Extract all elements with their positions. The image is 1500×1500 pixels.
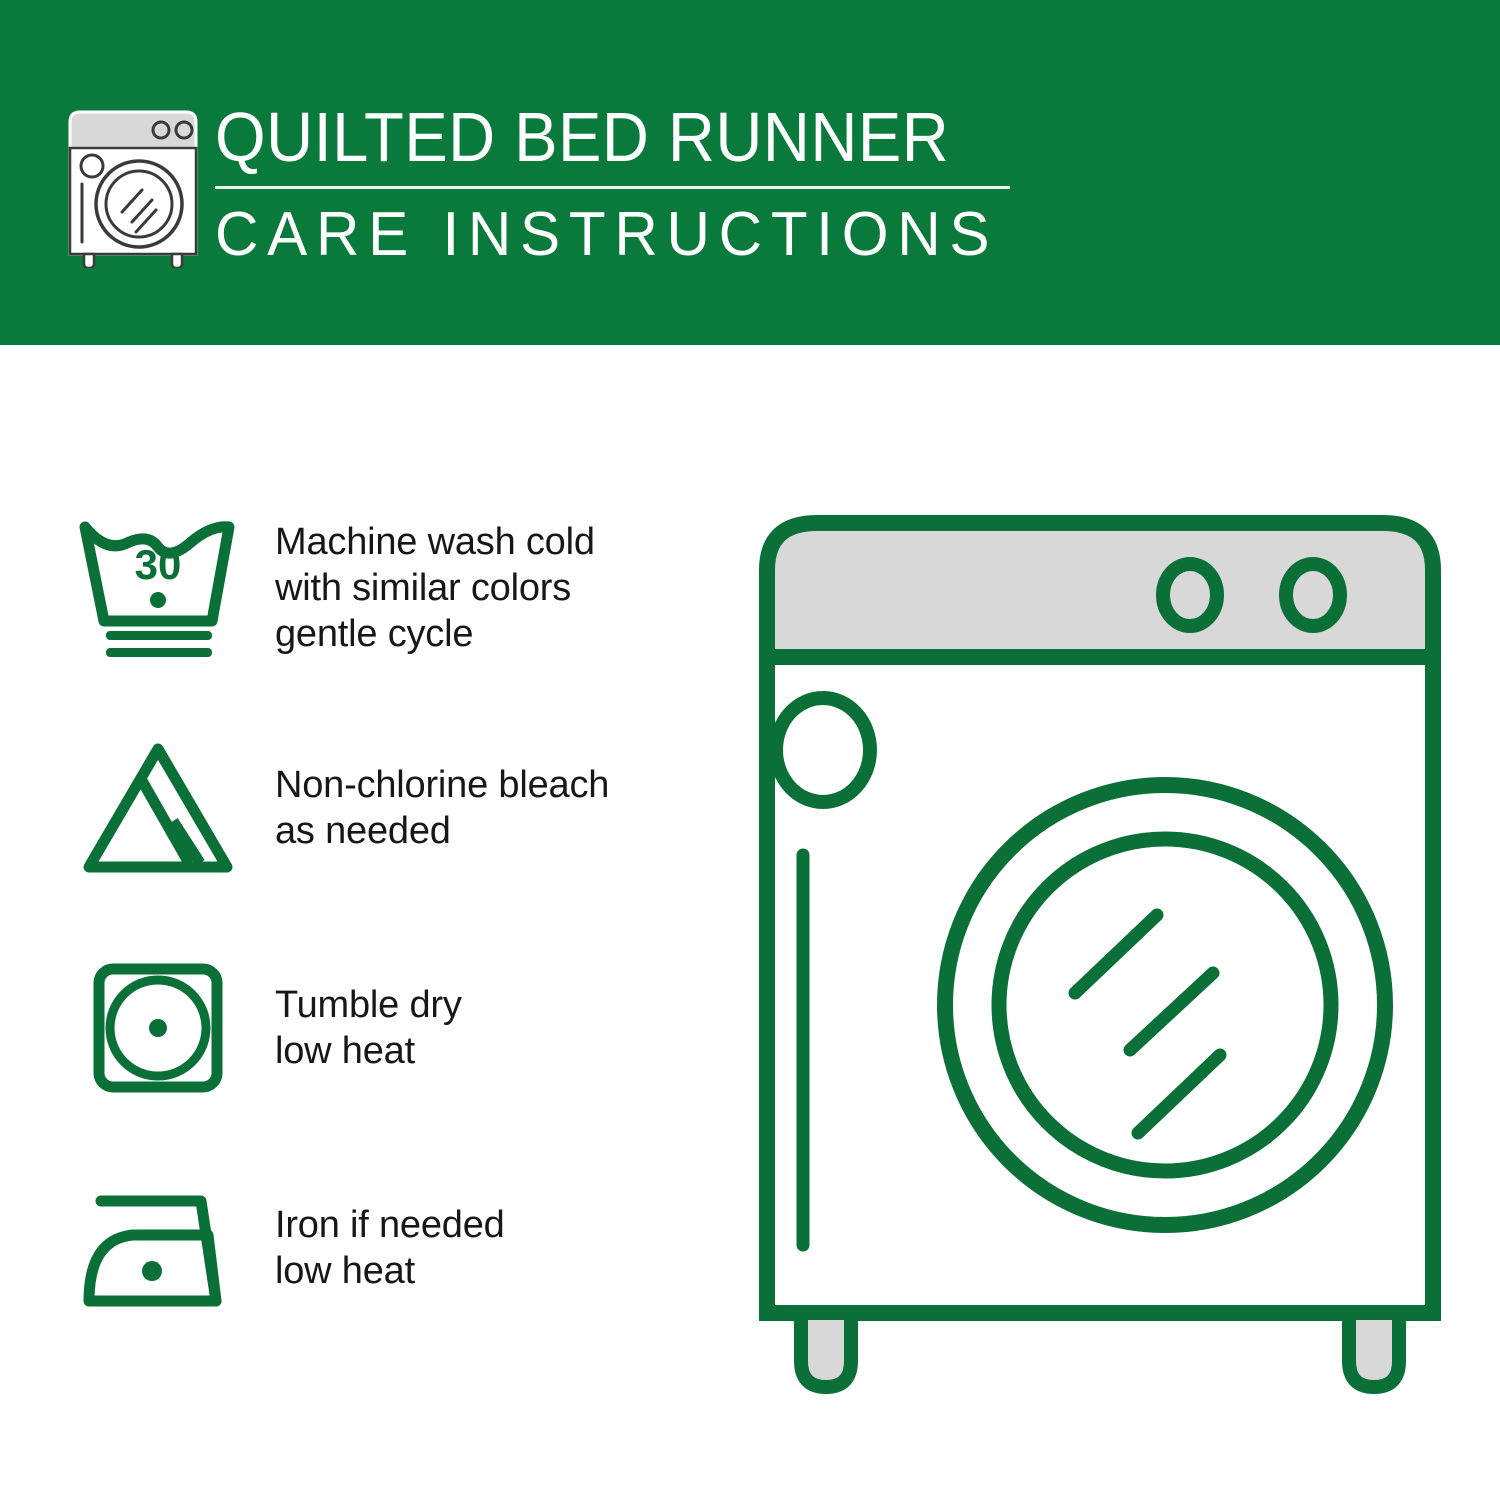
tumble-dry-low-icon bbox=[70, 948, 245, 1108]
care-line: low heat bbox=[275, 1028, 462, 1074]
page-subtitle: CARE INSTRUCTIONS bbox=[215, 203, 1282, 267]
care-row-bleach: Non-chlorine bleach as needed bbox=[0, 725, 680, 890]
care-row-iron: Iron if needed low heat bbox=[0, 1165, 680, 1330]
wash-tub-30-icon: 30 bbox=[70, 508, 245, 668]
care-line: gentle cycle bbox=[275, 611, 595, 657]
iron-low-heat-icon bbox=[70, 1168, 245, 1328]
header-washing-machine-icon bbox=[60, 108, 206, 268]
title-divider bbox=[215, 186, 1010, 189]
care-label-iron: Iron if needed low heat bbox=[275, 1202, 505, 1294]
svg-text:30: 30 bbox=[134, 541, 181, 588]
header-band: QUILTED BED RUNNER CARE INSTRUCTIONS bbox=[0, 0, 1500, 345]
care-row-wash: 30 Machine wash cold with similar colors… bbox=[0, 505, 680, 670]
header-text-block: QUILTED BED RUNNER CARE INSTRUCTIONS bbox=[215, 100, 1315, 267]
care-instructions-page: QUILTED BED RUNNER CARE INSTRUCTIONS 30 … bbox=[0, 0, 1500, 1500]
bleach-triangle-icon bbox=[70, 728, 245, 888]
leg-right bbox=[1349, 1313, 1399, 1387]
care-line: as needed bbox=[275, 808, 609, 854]
care-line: Non-chlorine bleach bbox=[275, 762, 609, 808]
care-line: Machine wash cold bbox=[275, 519, 595, 565]
care-line: Tumble dry bbox=[275, 982, 462, 1028]
care-line: low heat bbox=[275, 1248, 505, 1294]
page-title: QUILTED BED RUNNER bbox=[215, 100, 1238, 174]
care-line: Iron if needed bbox=[275, 1202, 505, 1248]
washing-machine-illustration bbox=[745, 495, 1455, 1415]
care-line: with similar colors bbox=[275, 565, 595, 611]
leg-left bbox=[801, 1313, 851, 1387]
care-label-tumble-dry: Tumble dry low heat bbox=[275, 982, 462, 1074]
care-label-wash: Machine wash cold with similar colors ge… bbox=[275, 519, 595, 657]
care-instruction-list: 30 Machine wash cold with similar colors… bbox=[0, 505, 680, 1330]
care-label-bleach: Non-chlorine bleach as needed bbox=[275, 762, 609, 854]
care-row-tumble-dry: Tumble dry low heat bbox=[0, 945, 680, 1110]
